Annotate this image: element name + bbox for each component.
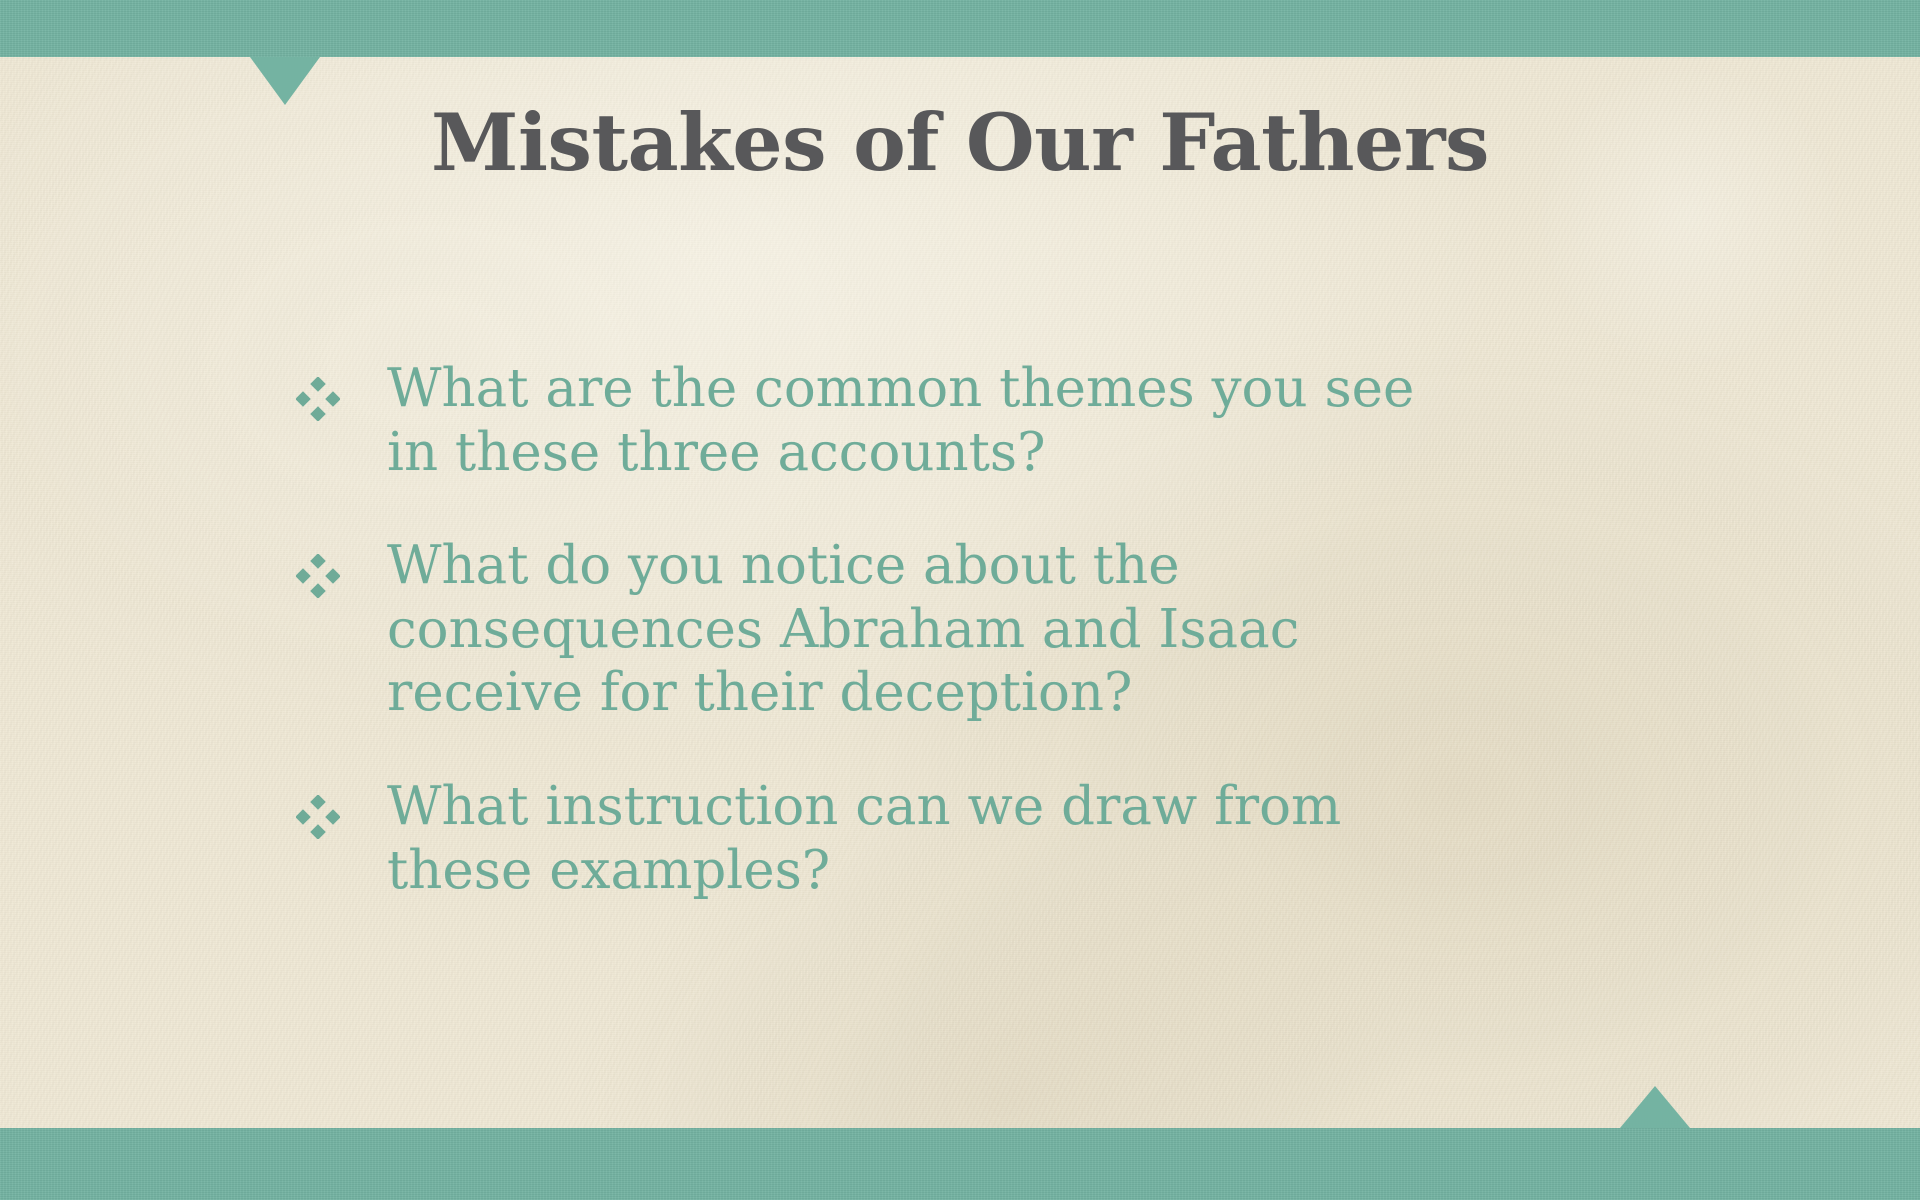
presentation-slide: Mistakes of Our Fathers What are the com… — [0, 0, 1920, 1200]
bullet-list: What are the common themes you see in th… — [296, 357, 1696, 902]
bullet-text: What instruction can we draw from these … — [387, 775, 1462, 902]
diamond-cluster-bullet-icon — [296, 554, 340, 598]
bottom-accent-bar — [0, 1128, 1920, 1200]
bottom-bar-grain — [0, 1128, 1920, 1200]
slide-title: Mistakes of Our Fathers — [0, 103, 1920, 184]
bullet-item: What instruction can we draw from these … — [296, 775, 1696, 902]
diamond-cluster-bullet-icon — [296, 795, 340, 839]
bullet-text: What do you notice about the consequence… — [387, 534, 1462, 725]
bullet-text: What are the common themes you see in th… — [387, 357, 1462, 484]
upward-triangle-peak-icon — [1620, 1086, 1690, 1128]
bullet-item: What do you notice about the consequence… — [296, 534, 1696, 725]
top-accent-bar — [0, 0, 1920, 57]
slide-content: Mistakes of Our Fathers What are the com… — [0, 57, 1920, 1128]
top-bar-grain — [0, 0, 1920, 57]
bullet-item: What are the common themes you see in th… — [296, 357, 1696, 484]
diamond-cluster-bullet-icon — [296, 377, 340, 421]
